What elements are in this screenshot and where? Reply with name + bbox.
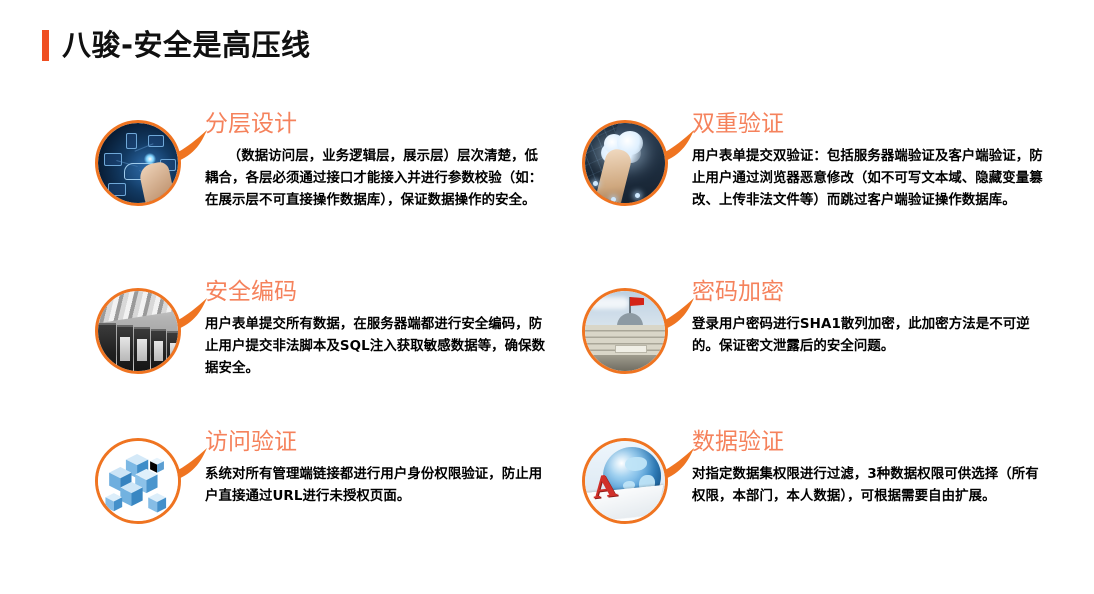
page-title: 八骏-安全是高压线 (42, 22, 311, 68)
page-title-text: 八骏-安全是高压线 (62, 31, 311, 60)
government-building-icon (582, 288, 668, 374)
cloud-network-icon (95, 120, 181, 206)
medallion-3 (95, 288, 187, 380)
card-text-6: 数据验证 对指定数据集权限进行过滤，3种数据权限可供选择（所有权限，本部门，本人… (674, 430, 1052, 508)
medallion-4 (582, 288, 674, 380)
cube-cluster-graphic (98, 441, 178, 521)
hand-touch-cloud-icon (582, 120, 668, 206)
server-room-icon (95, 288, 181, 374)
card-body: 用户表单提交双验证：包括服务器端验证及客户端验证，防止用户通过浏览器恶意修改（如… (692, 146, 1052, 211)
card-heading: 分层设计 (205, 112, 549, 137)
card-heading: 数据验证 (692, 430, 1052, 455)
card-body: 用户表单提交所有数据，在服务器端都进行安全编码，防止用户提交非法脚本及SQL注入… (205, 314, 549, 379)
feature-card-access-validation: 访问验证 系统对所有管理端链接都进行用户身份权限验证，防止用户直接通过URL进行… (95, 430, 582, 570)
card-text-3: 安全编码 用户表单提交所有数据，在服务器端都进行安全编码，防止用户提交非法脚本及… (187, 280, 549, 379)
medallion-6: A (582, 438, 674, 530)
title-accent-bar (42, 30, 49, 61)
card-heading: 双重验证 (692, 112, 1052, 137)
globe-document-icon: A (582, 438, 668, 524)
card-heading: 密码加密 (692, 280, 1052, 305)
medallion-5 (95, 438, 187, 530)
medallion-2 (582, 120, 674, 212)
card-body: 对指定数据集权限进行过滤，3种数据权限可供选择（所有权限，本部门，本人数据），可… (692, 464, 1052, 507)
card-text-5: 访问验证 系统对所有管理端链接都进行用户身份权限验证，防止用户直接通过URL进行… (187, 430, 549, 508)
feature-card-dual-validation: 双重验证 用户表单提交双验证：包括服务器端验证及客户端验证，防止用户通过浏览器恶… (582, 112, 1069, 280)
feature-card-grid: 分层设计 （数据访问层，业务逻辑层，展示层）层次清楚，低耦合，各层必须通过接口才… (0, 112, 1094, 570)
feature-card-password-encryption: 密码加密 登录用户密码进行SHA1散列加密，此加密方法是不可逆的。保证密文泄露后… (582, 280, 1069, 430)
card-heading: 访问验证 (205, 430, 549, 455)
feature-card-secure-coding: 安全编码 用户表单提交所有数据，在服务器端都进行安全编码，防止用户提交非法脚本及… (95, 280, 582, 430)
card-text-1: 分层设计 （数据访问层，业务逻辑层，展示层）层次清楚，低耦合，各层必须通过接口才… (187, 112, 549, 211)
card-heading: 安全编码 (205, 280, 549, 305)
feature-card-layered-design: 分层设计 （数据访问层，业务逻辑层，展示层）层次清楚，低耦合，各层必须通过接口才… (95, 112, 582, 280)
feature-card-data-validation: A 数据验证 对指定数据集权限进行过滤，3种数据权限可供选择（所有权限，本部门，… (582, 430, 1069, 570)
card-body: （数据访问层，业务逻辑层，展示层）层次清楚，低耦合，各层必须通过接口才能接入并进… (205, 146, 549, 211)
card-text-2: 双重验证 用户表单提交双验证：包括服务器端验证及客户端验证，防止用户通过浏览器恶… (674, 112, 1052, 211)
card-body: 系统对所有管理端链接都进行用户身份权限验证，防止用户直接通过URL进行未授权页面… (205, 464, 549, 507)
medallion-1 (95, 120, 187, 212)
card-text-4: 密码加密 登录用户密码进行SHA1散列加密，此加密方法是不可逆的。保证密文泄露后… (674, 280, 1052, 358)
card-body: 登录用户密码进行SHA1散列加密，此加密方法是不可逆的。保证密文泄露后的安全问题… (692, 314, 1052, 357)
blue-cubes-icon (95, 438, 181, 524)
